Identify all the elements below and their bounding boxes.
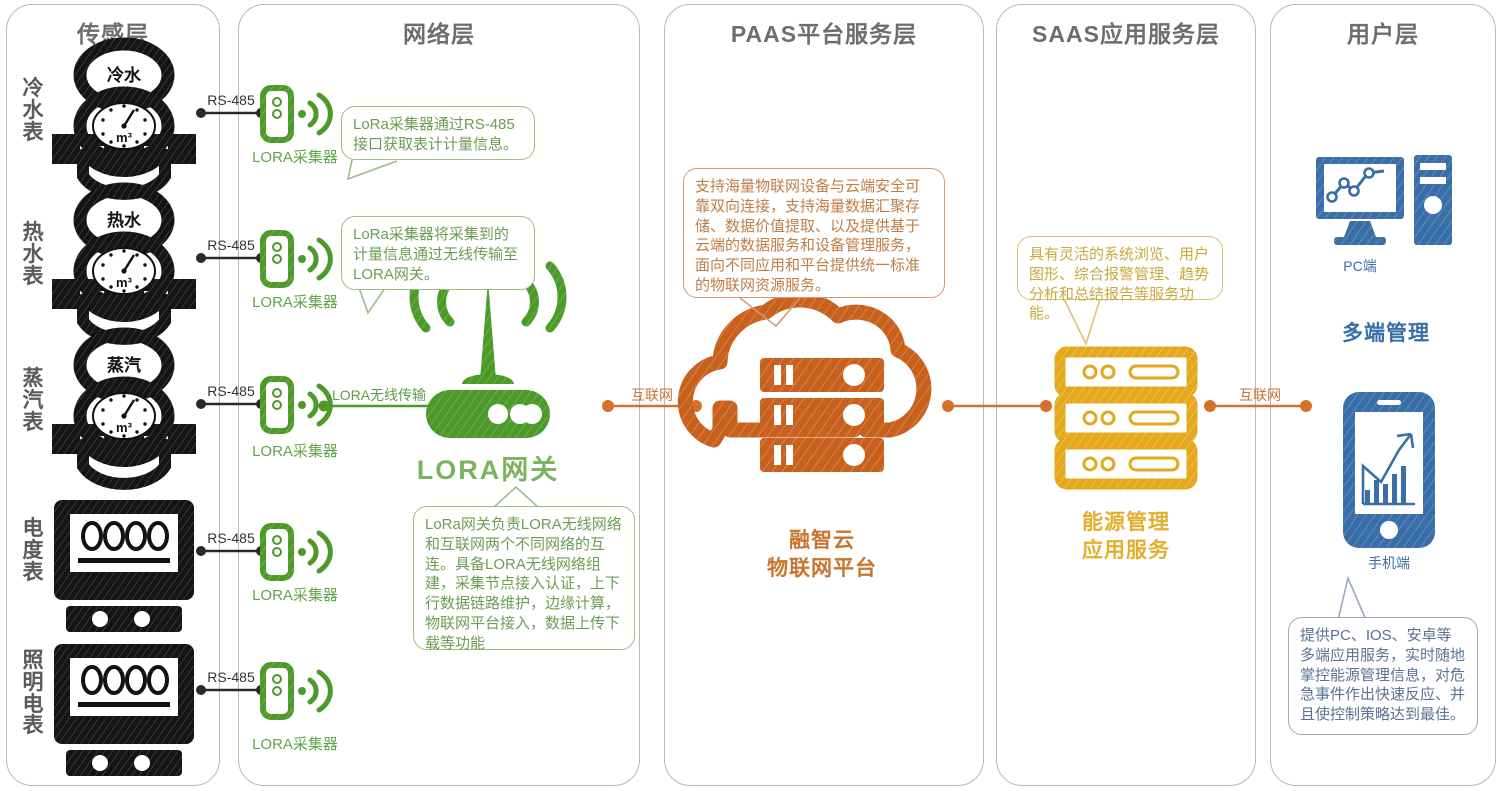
link-label-rs485-1: RS-485 — [201, 92, 261, 108]
collector-label-1: LORA采集器 — [240, 146, 350, 167]
meter-label-cold-water: 冷水表 — [16, 78, 50, 143]
callout-saas-desc: 具有灵活的系统浏览、用户图形、综合报警管理、趋势分析和总结报告等服务功能。 — [1017, 236, 1223, 300]
collector-label-4: LORA采集器 — [240, 584, 350, 605]
link-label-rs485-4: RS-485 — [201, 530, 261, 546]
diagram-canvas: 传感层 网络层 PAAS平台服务层 SAAS应用服务层 用户层 冷水表 热水表 … — [0, 0, 1500, 791]
panel-paas-title: PAAS平台服务层 — [665, 15, 983, 49]
link-label-lora-wireless: LORA无线传输 — [324, 385, 434, 405]
panel-network-title: 网络层 — [239, 15, 639, 49]
link-label-rs485-5: RS-485 — [201, 669, 261, 685]
link-label-rs485-2: RS-485 — [201, 237, 261, 253]
panel-saas-title: SAAS应用服务层 — [997, 15, 1255, 49]
callout-paas-desc: 支持海量物联网设备与云端安全可靠双向连接，支持海量数据汇聚存储、数据价值提取、以… — [683, 168, 945, 298]
pc-label: PC端 — [1310, 256, 1410, 276]
link-label-internet-2: 互联网 — [1216, 385, 1304, 405]
meter-label-lighting: 照明电表 — [16, 650, 50, 737]
collector-label-3: LORA采集器 — [240, 440, 350, 461]
meter-label-steam: 蒸汽表 — [16, 368, 50, 433]
phone-label: 手机端 — [1339, 553, 1439, 573]
panel-user-title: 用户层 — [1271, 15, 1495, 49]
callout-collector-rs485: LoRa采集器通过RS-485接口获取表计计量信息。 — [341, 106, 535, 160]
callout-collector-wireless: LoRa采集器将采集到的计量信息通过无线传输至LORA网关。 — [341, 216, 535, 290]
callout-gateway-desc: LoRa网关负责LORA无线网络和互联网两个不同网络的互连。具备LORA无线网络… — [413, 506, 635, 650]
collector-label-2: LORA采集器 — [240, 291, 350, 312]
saas-name-line2: 应用服务 — [1026, 538, 1226, 564]
meter-label-electric: 电度表 — [16, 518, 50, 583]
callout-user-desc: 提供PC、IOS、安卓等多端应用服务，实时随地掌控能源管理信息，对危急事件作出快… — [1288, 617, 1478, 735]
saas-name-line1: 能源管理 — [1026, 510, 1226, 536]
paas-name-line1: 融智云 — [722, 528, 922, 554]
multi-terminal-headline: 多端管理 — [1286, 317, 1486, 347]
meter-label-hot-water: 热水表 — [16, 222, 50, 287]
link-label-rs485-3: RS-485 — [201, 383, 261, 399]
gateway-name: LORA网关 — [388, 448, 588, 487]
link-label-internet-1: 互联网 — [608, 385, 696, 405]
collector-label-5: LORA采集器 — [240, 733, 350, 754]
panel-sensing-title: 传感层 — [7, 15, 219, 49]
paas-name-line2: 物联网平台 — [722, 556, 922, 582]
panel-paas: PAAS平台服务层 — [664, 4, 984, 786]
